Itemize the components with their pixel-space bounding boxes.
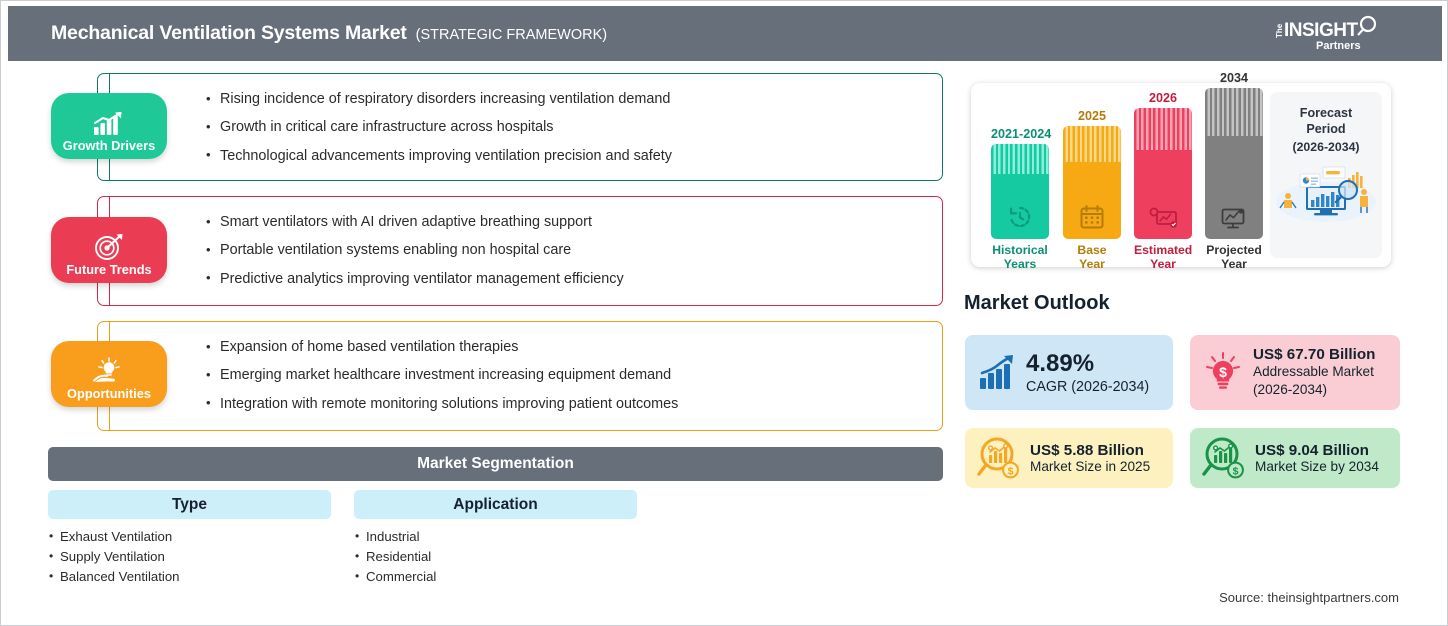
stat-label: Market Size in 2025 xyxy=(1030,459,1150,474)
timeline-caption: Estimated Year xyxy=(1134,244,1192,271)
segmentation-column-header: Type xyxy=(48,490,331,519)
badge-opportunities[interactable]: Opportunities xyxy=(51,341,167,407)
stat-text: US$ 5.88 Billion Market Size in 2025 xyxy=(1030,442,1150,474)
timeline-caption-line2: Year xyxy=(1079,257,1105,271)
bullet-item: Predictive analytics improving ventilato… xyxy=(206,265,942,293)
projection-screen-icon xyxy=(1220,206,1248,230)
bullet-list: Rising incidence of respiratory disorder… xyxy=(206,74,942,181)
stat-text: US$ 67.70 Billion Addressable Market (20… xyxy=(1253,346,1375,399)
logo-partners: Partners xyxy=(1316,40,1361,52)
stat-value: US$ 67.70 Billion xyxy=(1253,346,1375,363)
timeline-stripes xyxy=(1205,88,1263,136)
timeline-caption-line1: Estimated xyxy=(1134,243,1192,257)
bar-chart-arrow-icon xyxy=(977,354,1017,392)
timeline-caption-line2: Year xyxy=(1221,257,1247,271)
timeline-caption-line1: Historical xyxy=(992,243,1048,257)
timeline-caption-line1: Base xyxy=(1077,243,1106,257)
badge-label: Opportunities xyxy=(67,387,151,401)
stat-card-market-size-2034: $ US$ 9.04 Billion Market Size by 2034 xyxy=(1190,428,1400,488)
bullet-item: Integration with remote monitoring solut… xyxy=(206,390,942,418)
market-segmentation-header: Market Segmentation xyxy=(48,447,943,481)
forecast-title: Forecast Period xyxy=(1300,106,1353,137)
timeline-stripes xyxy=(1063,126,1121,162)
list-item: Balanced Ventilation xyxy=(48,567,331,587)
market-outlook-title: Market Outlook xyxy=(964,292,1110,315)
logo-the: The xyxy=(1275,23,1284,38)
segmentation-column-label: Type xyxy=(172,496,207,514)
timeline-bar-estimated: 2026 Estimated Year xyxy=(1134,91,1192,271)
stat-text: US$ 9.04 Billion Market Size by 2034 xyxy=(1255,442,1379,474)
timeline-caption: Projected Year xyxy=(1205,244,1263,271)
timeline-stripes xyxy=(991,144,1049,174)
list-item: Supply Ventilation xyxy=(48,547,331,567)
bullet-list: Smart ventilators with AI driven adaptiv… xyxy=(206,197,942,304)
segmentation-column-header: Application xyxy=(354,490,637,519)
bullet-item: Emerging market healthcare investment in… xyxy=(206,361,942,389)
magnifier-chart-dollar-icon: $ xyxy=(1200,435,1246,481)
calendar-icon xyxy=(1079,204,1105,230)
timeline-caption: Base Year xyxy=(1063,244,1121,271)
segmentation-title: Market Segmentation xyxy=(417,455,574,473)
stat-label: CAGR (2026-2034) xyxy=(1026,379,1149,395)
stat-card-cagr: 4.89% CAGR (2026-2034) xyxy=(965,335,1173,410)
timeline-solid xyxy=(1134,150,1192,239)
insight-partners-logo: The INSIGHT Partners xyxy=(1270,14,1390,54)
timeline-solid xyxy=(991,174,1049,239)
logo-insight: INSIGHT xyxy=(1284,20,1358,41)
timeline-caption-line2: Years xyxy=(1004,257,1037,271)
stat-card-market-size-2025: $ US$ 5.88 Billion Market Size in 2025 xyxy=(965,428,1173,488)
bullet-list: Expansion of home based ventilation ther… xyxy=(206,322,942,429)
timeline-card: 2021-2024 Historical Years 2025 xyxy=(971,83,1391,267)
stat-value: 4.89% xyxy=(1026,350,1149,378)
list-item: Commercial xyxy=(354,567,637,587)
bullet-item: Rising incidence of respiratory disorder… xyxy=(206,85,942,113)
timeline-caption-line2: Year xyxy=(1150,257,1176,271)
panel-future-trends: Smart ventilators with AI driven adaptiv… xyxy=(97,196,943,306)
bullet-item: Portable ventilation systems enabling no… xyxy=(206,236,942,264)
segmentation-column-label: Application xyxy=(453,496,537,514)
timeline-year-label: 2021-2024 xyxy=(991,127,1049,141)
timeline-bar-base: 2025 xyxy=(1063,109,1121,271)
page-title: Mechanical Ventilation Systems Market xyxy=(51,22,407,45)
badge-label: Future Trends xyxy=(66,263,151,277)
forecast-period-box: Forecast Period (2026-2034) xyxy=(1270,92,1382,258)
timeline-caption: Historical Years xyxy=(991,244,1049,271)
bar-chart-growth-icon xyxy=(92,111,126,137)
target-dart-icon xyxy=(94,233,124,261)
bullet-item: Expansion of home based ventilation ther… xyxy=(206,333,942,361)
forecast-monitor-icon xyxy=(1148,206,1178,230)
timeline-year-label: 2026 xyxy=(1134,91,1192,105)
badge-label: Growth Drivers xyxy=(63,139,155,153)
page-subtitle: (STRATEGIC FRAMEWORK) xyxy=(416,27,607,43)
lightbulb-dollar-icon: $ xyxy=(1202,351,1244,395)
forecast-range: (2026-2034) xyxy=(1293,140,1360,154)
stat-value: US$ 9.04 Billion xyxy=(1255,442,1379,459)
stat-label: Addressable Market xyxy=(1253,363,1375,381)
stat-value: US$ 5.88 Billion xyxy=(1030,442,1150,459)
timeline-stripes xyxy=(1134,108,1192,150)
stat-text: 4.89% CAGR (2026-2034) xyxy=(1026,350,1149,395)
badge-growth-drivers[interactable]: Growth Drivers xyxy=(51,93,167,159)
stat-label: Market Size by 2034 xyxy=(1255,459,1379,474)
panel-growth-drivers: Rising incidence of respiratory disorder… xyxy=(97,73,943,181)
timeline-solid xyxy=(1205,136,1263,239)
stat-card-addressable-market: $ US$ 67.70 Billion Addressable Market (… xyxy=(1190,335,1400,410)
panel-opportunities: Expansion of home based ventilation ther… xyxy=(97,321,943,431)
magnifier-chart-dollar-icon: $ xyxy=(975,435,1021,481)
bullet-item: Smart ventilators with AI driven adaptiv… xyxy=(206,208,942,236)
segmentation-item-list: Industrial Residential Commercial xyxy=(354,527,637,588)
timeline-solid xyxy=(1063,162,1121,239)
bullet-item: Technological advancements improving ven… xyxy=(206,142,942,170)
header-title-group: Mechanical Ventilation Systems Market (S… xyxy=(51,22,607,45)
clock-history-icon xyxy=(1007,204,1033,230)
segmentation-item-list: Exhaust Ventilation Supply Ventilation B… xyxy=(48,527,331,588)
timeline-year-label: 2034 xyxy=(1205,71,1263,85)
forecast-title-line1: Forecast xyxy=(1300,106,1353,120)
svg-text:$: $ xyxy=(1233,466,1239,478)
svg-text:$: $ xyxy=(1219,364,1227,380)
timeline-bar-projected: 2034 Projected Year xyxy=(1205,71,1263,271)
source-attribution: Source: theinsightpartners.com xyxy=(1219,590,1399,605)
stat-label-secondary: (2026-2034) xyxy=(1253,381,1375,399)
forecast-title-line2: Period xyxy=(1306,122,1345,136)
bullet-item: Growth in critical care infrastructure a… xyxy=(206,113,942,141)
hand-lightbulb-icon xyxy=(92,357,126,385)
list-item: Residential xyxy=(354,547,637,567)
segmentation-column-type: Type Exhaust Ventilation Supply Ventilat… xyxy=(48,490,331,588)
svg-text:$: $ xyxy=(1008,466,1014,478)
timeline-year-label: 2025 xyxy=(1063,109,1121,123)
list-item: Industrial xyxy=(354,527,637,547)
timeline-caption-line1: Projected xyxy=(1206,243,1262,257)
header-bar: Mechanical Ventilation Systems Market (S… xyxy=(8,6,1442,61)
list-item: Exhaust Ventilation xyxy=(48,527,331,547)
segmentation-column-application: Application Industrial Residential Comme… xyxy=(354,490,637,588)
infographic-root: Mechanical Ventilation Systems Market (S… xyxy=(0,0,1448,626)
badge-future-trends[interactable]: Future Trends xyxy=(51,217,167,283)
timeline-bar-historical: 2021-2024 Historical Years xyxy=(991,127,1049,271)
data-analysis-illustration xyxy=(1272,162,1380,224)
